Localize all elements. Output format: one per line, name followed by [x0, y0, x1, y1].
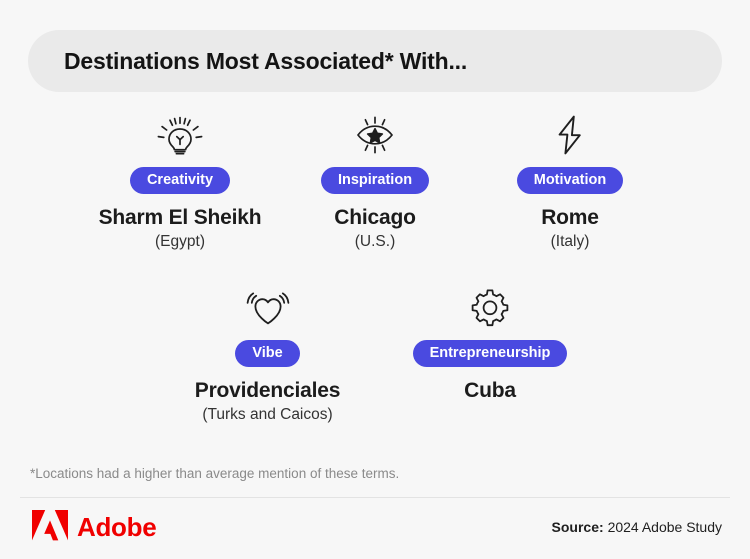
item-inspiration: Inspiration Chicago (U.S.)	[278, 110, 473, 251]
adobe-wordmark: Adobe	[77, 512, 156, 543]
heartbeat-icon	[244, 283, 292, 333]
badge-motivation: Motivation	[517, 167, 624, 194]
place-name: Rome	[541, 206, 599, 230]
source-attribution: Source: 2024 Adobe Study	[552, 519, 722, 535]
eye-star-icon	[351, 110, 399, 160]
item-vibe: Vibe Providenciales (Turks and Caicos)	[153, 283, 383, 424]
badge-entrepreneurship: Entrepreneurship	[413, 340, 568, 367]
item-creativity: Creativity Sharm El Sheikh (Egypt)	[83, 110, 278, 251]
badge-inspiration: Inspiration	[321, 167, 429, 194]
item-entrepreneurship: Entrepreneurship Cuba	[383, 283, 598, 424]
lightning-bolt-icon	[546, 110, 594, 160]
badge-creativity: Creativity	[130, 167, 230, 194]
place-region: (Italy)	[551, 233, 590, 251]
footnote: *Locations had a higher than average men…	[30, 466, 399, 481]
place-name: Chicago	[334, 206, 415, 230]
place-name: Cuba	[464, 379, 516, 403]
adobe-logo: Adobe	[32, 509, 156, 546]
adobe-logo-icon	[32, 509, 68, 546]
source-label: Source:	[552, 519, 604, 535]
source-value: 2024 Adobe Study	[608, 519, 722, 535]
place-name: Providenciales	[195, 379, 340, 403]
page-title: Destinations Most Associated* With...	[64, 48, 467, 75]
place-name: Sharm El Sheikh	[99, 206, 262, 230]
place-region: (Egypt)	[155, 233, 205, 251]
items-row-two: Vibe Providenciales (Turks and Caicos) E…	[0, 283, 750, 424]
lightbulb-icon	[156, 110, 204, 160]
footer-divider	[20, 497, 730, 498]
place-region: (Turks and Caicos)	[202, 406, 332, 424]
badge-vibe: Vibe	[235, 340, 299, 367]
item-motivation: Motivation Rome (Italy)	[473, 110, 668, 251]
title-bar: Destinations Most Associated* With...	[28, 30, 722, 92]
footer: Adobe Source: 2024 Adobe Study	[0, 505, 750, 555]
items-row-one: Creativity Sharm El Sheikh (Egypt) Inspi…	[0, 110, 750, 251]
place-region: (U.S.)	[355, 233, 395, 251]
gear-icon	[466, 283, 514, 333]
